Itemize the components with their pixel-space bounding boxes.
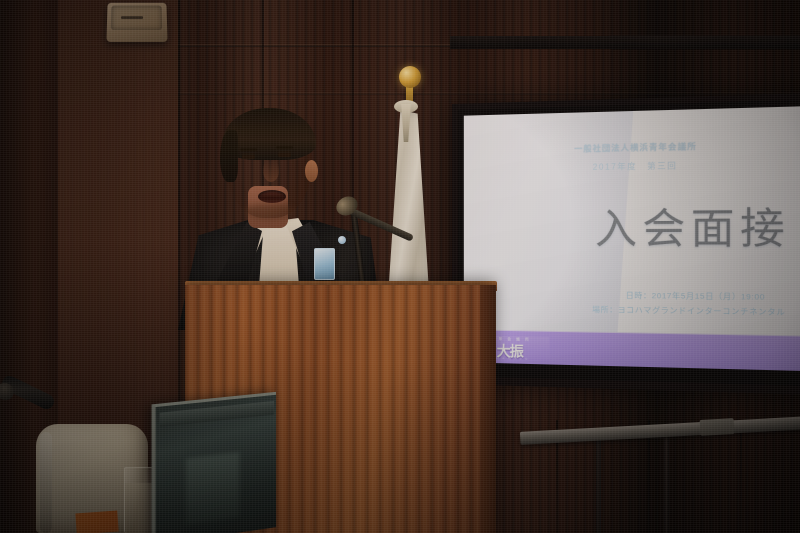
speaker-sideburn bbox=[220, 130, 238, 182]
lapel-pin-icon bbox=[338, 236, 346, 244]
laptop-computer bbox=[152, 392, 276, 533]
ceiling-speaker-box bbox=[106, 3, 167, 42]
speaker-eyebrow-right bbox=[276, 146, 293, 149]
speaker-chin-shadow bbox=[244, 204, 296, 220]
screen-rail-clip bbox=[700, 418, 735, 436]
slide-title: 入会面接 bbox=[505, 193, 800, 257]
speaker-nose bbox=[263, 160, 279, 182]
screen-stand-leg bbox=[596, 437, 601, 533]
speaker-eye-left bbox=[242, 155, 255, 159]
screen-stand-leg bbox=[664, 437, 669, 533]
projection-screen: 一般社団法人横浜青年会議所 2017年度 第三回 入会面接 日時：2017年5月… bbox=[452, 92, 800, 395]
laptop-screen-content bbox=[186, 452, 239, 525]
speaker-mouth bbox=[258, 190, 286, 203]
podium-side-edge bbox=[480, 285, 496, 533]
speaker-label bbox=[121, 16, 143, 19]
conference-photo: 一般社団法人横浜青年会議所 2017年度 第三回 入会面接 日時：2017年5月… bbox=[0, 0, 800, 533]
screen-surface: 一般社団法人横浜青年会議所 2017年度 第三回 入会面接 日時：2017年5月… bbox=[464, 105, 800, 371]
speaker-eye-right bbox=[278, 153, 291, 157]
orange-paper bbox=[75, 511, 118, 533]
screen-top-housing bbox=[450, 35, 800, 49]
speaker-ear bbox=[305, 160, 318, 182]
water-level bbox=[125, 483, 155, 533]
speaker-name-badge bbox=[314, 248, 335, 280]
speaker-eyebrow-left bbox=[240, 148, 257, 151]
chair-cover-fold bbox=[40, 432, 52, 533]
wall-panel-seam bbox=[740, 420, 742, 533]
flag-finial-ball bbox=[399, 66, 421, 88]
laptop-screen-bezel bbox=[160, 401, 274, 427]
